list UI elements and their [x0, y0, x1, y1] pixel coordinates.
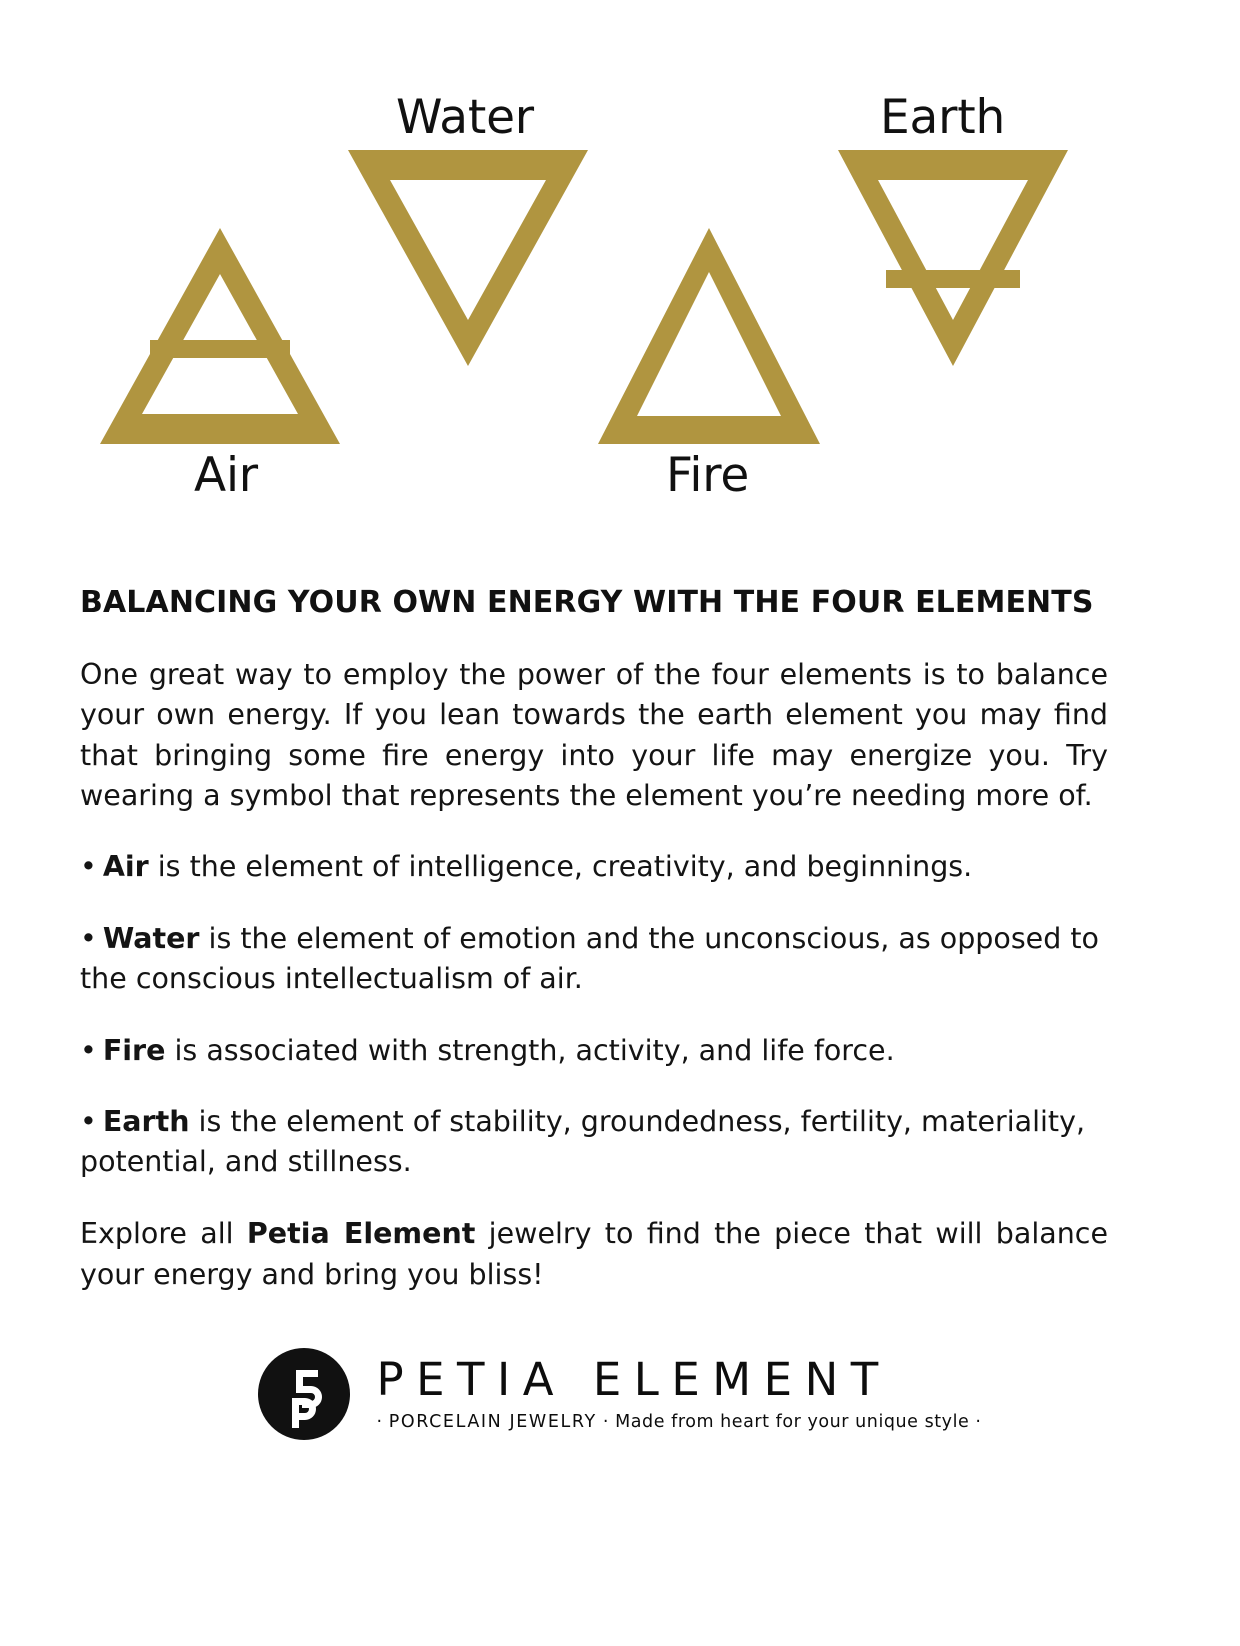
- tagline-prefix: ·: [376, 1412, 388, 1432]
- brand-name: Petia Element: [247, 1217, 476, 1250]
- earth-element-icon: [838, 150, 1068, 366]
- water-element-icon: [348, 150, 588, 366]
- bullet-marker: •: [80, 919, 97, 959]
- petia-element-monogram-icon: [258, 1348, 350, 1440]
- fire-element-icon: [598, 228, 820, 444]
- tagline-rest: · Made from heart for your unique style …: [597, 1412, 982, 1432]
- tagline-caps: PORCELAIN JEWELRY: [389, 1412, 597, 1432]
- list-item: •Water is the element of emotion and the…: [80, 919, 1108, 999]
- list-item: •Air is the element of intelligence, cre…: [80, 847, 1108, 887]
- intro-paragraph: One great way to employ the power of the…: [80, 655, 1108, 817]
- symbol-label-fire: Fire: [666, 448, 749, 503]
- symbol-label-air: Air: [194, 448, 258, 503]
- logo-tagline: · PORCELAIN JEWELRY · Made from heart fo…: [376, 1412, 981, 1432]
- list-item: •Earth is the element of stability, grou…: [80, 1102, 1108, 1182]
- bullet-term-fire: Fire: [103, 1034, 166, 1067]
- bullet-text-earth: is the element of stability, groundednes…: [80, 1105, 1085, 1178]
- symbol-label-water: Water: [396, 90, 534, 145]
- bullet-text-fire: is associated with strength, activity, a…: [165, 1034, 894, 1067]
- bullet-term-earth: Earth: [103, 1105, 190, 1138]
- bullet-marker: •: [80, 847, 97, 887]
- bullet-text-air: is the element of intelligence, creativi…: [149, 850, 973, 883]
- closing-before: Explore all: [80, 1217, 247, 1250]
- element-description-list: •Air is the element of intelligence, cre…: [80, 847, 1108, 1182]
- bullet-marker: •: [80, 1031, 97, 1071]
- element-symbols-row: Water Earth Air Fire: [0, 0, 1240, 545]
- list-item: •Fire is associated with strength, activ…: [80, 1031, 1108, 1071]
- symbol-label-earth: Earth: [880, 90, 1005, 145]
- closing-paragraph: Explore all Petia Element jewelry to fin…: [80, 1214, 1108, 1295]
- logo-wordmark: PETIA ELEMENT: [376, 1356, 890, 1403]
- article-body: BALANCING YOUR OWN ENERGY WITH THE FOUR …: [80, 585, 1108, 1325]
- bullet-term-water: Water: [103, 922, 200, 955]
- bullet-term-air: Air: [103, 850, 149, 883]
- brand-logo: PETIA ELEMENT · PORCELAIN JEWELRY · Made…: [0, 1348, 1240, 1440]
- air-element-icon: [100, 228, 340, 444]
- bullet-text-water: is the element of emotion and the uncons…: [80, 922, 1099, 995]
- bullet-marker: •: [80, 1102, 97, 1142]
- page-title: BALANCING YOUR OWN ENERGY WITH THE FOUR …: [80, 585, 1108, 621]
